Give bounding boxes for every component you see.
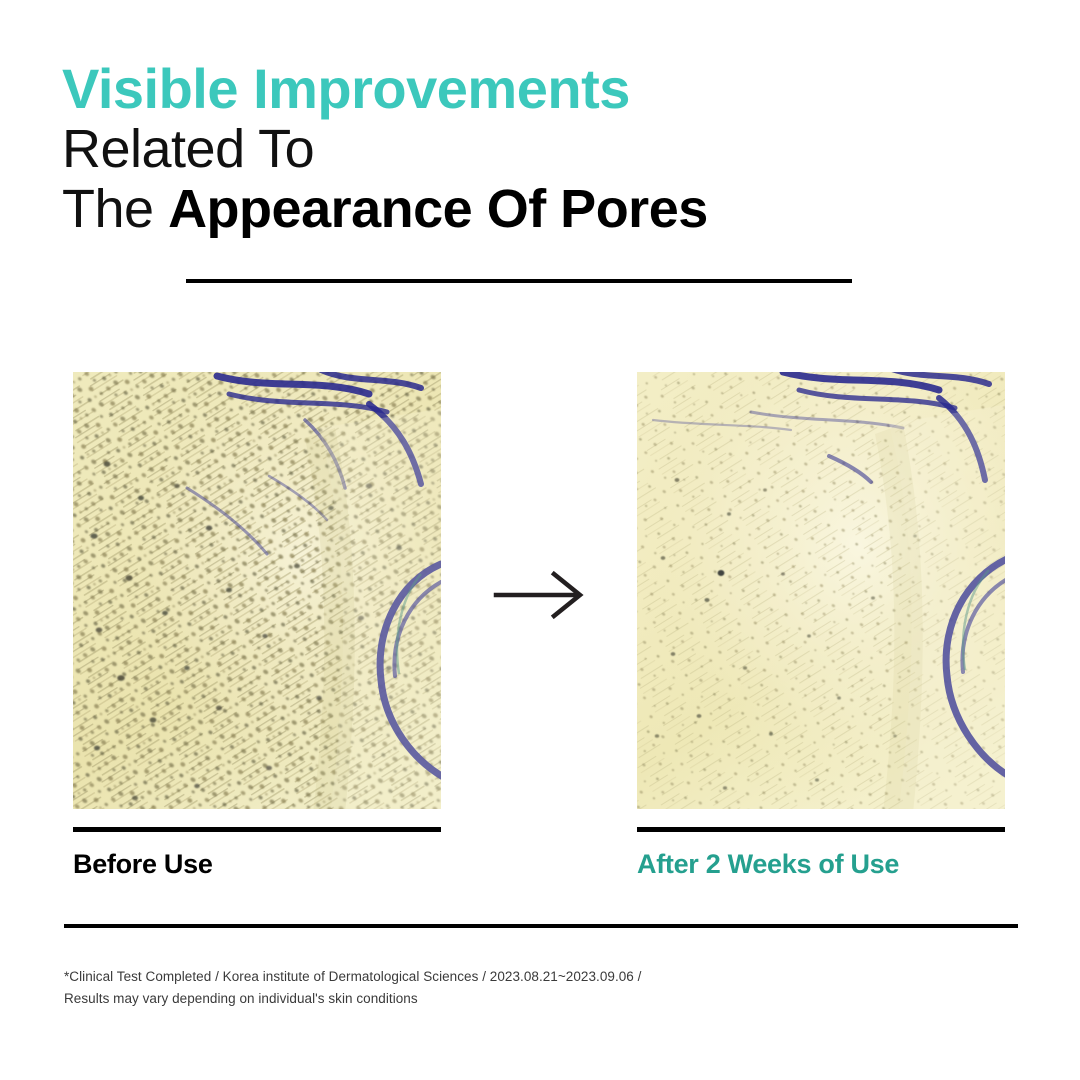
- headline-underline: [186, 279, 852, 283]
- footnote-block: *Clinical Test Completed / Korea institu…: [64, 966, 864, 1010]
- headline-line-tertiary: The Appearance Of Pores: [62, 184, 1022, 236]
- label-after-use: After 2 Weeks of Use: [637, 849, 899, 880]
- photo-after[interactable]: [637, 372, 1005, 809]
- transition-arrow: [492, 570, 588, 620]
- label-before-use: Before Use: [73, 849, 213, 880]
- headline-line-accent: Visible Improvements: [62, 62, 1022, 116]
- headline-emphasis: Appearance Of Pores: [168, 184, 708, 236]
- headline-block: Visible Improvements Related To The Appe…: [62, 62, 1022, 235]
- footer-divider: [64, 924, 1018, 928]
- label-bar-before: [73, 827, 441, 832]
- headline-prefix: The: [62, 179, 168, 239]
- photo-before[interactable]: [73, 372, 441, 809]
- label-bar-after: [637, 827, 1005, 832]
- headline-line-secondary: Related To: [62, 124, 1022, 176]
- arrow-right-icon: [492, 570, 588, 620]
- footnote-line-2: Results may vary depending on individual…: [64, 988, 864, 1010]
- magnified-skin-after-image: [637, 372, 1005, 809]
- magnified-skin-before-image: [73, 372, 441, 809]
- footnote-line-1: *Clinical Test Completed / Korea institu…: [64, 966, 864, 988]
